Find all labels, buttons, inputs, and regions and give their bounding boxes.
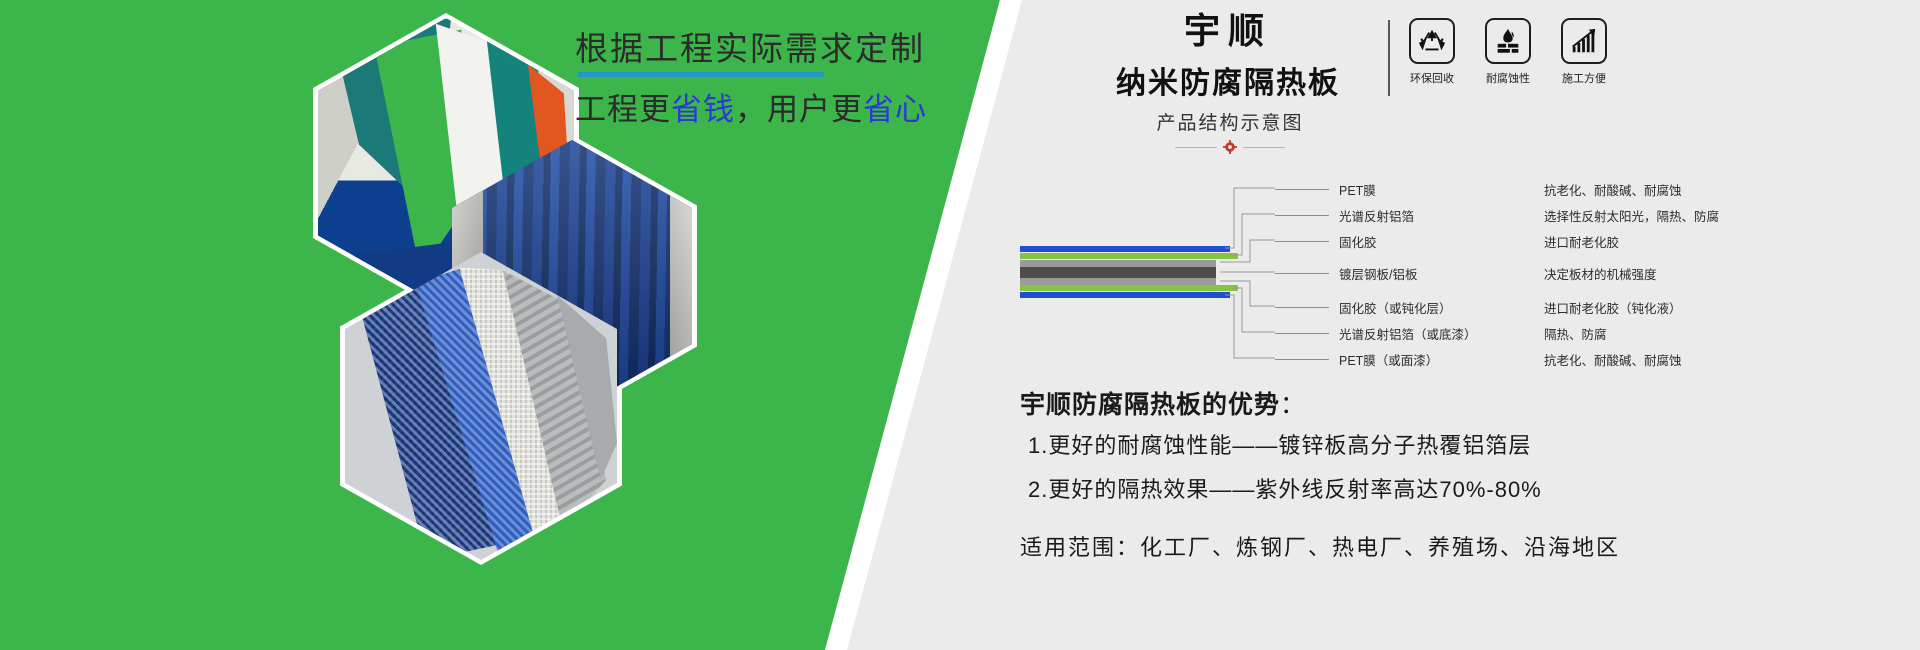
layer-desc: 隔热、防腐	[1544, 324, 1607, 343]
layer-structure-diagram: PET膜 抗老化、耐酸碱、耐腐蚀 光谱反射铝箔 选择性反射太阳光，隔热、防腐 固…	[1020, 176, 1900, 376]
layer-name: 光谱反射铝箔	[1339, 206, 1544, 225]
headline-highlight-2: 省心	[863, 92, 927, 127]
layer-desc: 抗老化、耐酸碱、耐腐蚀	[1544, 350, 1682, 369]
recycle-icon	[1417, 26, 1447, 56]
advantages-title-text: 宇顺防腐隔热板的优势	[1020, 391, 1280, 419]
brand-block: 宇顺 纳米防腐隔热板	[1088, 12, 1368, 102]
layer-row: 光谱反射铝箔 选择性反射太阳光，隔热、防腐	[1275, 206, 1895, 225]
badge-box	[1409, 18, 1455, 64]
fire-brick-icon	[1493, 26, 1523, 56]
structure-diagram-title: 产品结构示意图	[1020, 108, 1440, 135]
advantages-title: 宇顺防腐隔热板的优势：	[1020, 385, 1306, 421]
advantage-item-1: 1.更好的耐腐蚀性能——镀锌板高分子热覆铝箔层	[1028, 428, 1531, 460]
headline-secondary-part1: 工程更	[575, 92, 671, 127]
layer-desc: 进口耐老化胶	[1544, 232, 1619, 251]
headline-primary: 根据工程实际需求定制	[575, 22, 925, 70]
badge-label: 环保回收	[1405, 70, 1459, 86]
brand-subtitle: 纳米防腐隔热板	[1088, 58, 1368, 102]
headline-secondary: 工程更省钱，用户更省心	[575, 84, 927, 129]
badge-recycle: 环保回收	[1405, 18, 1459, 86]
feature-badges: 环保回收 耐腐蚀性	[1405, 18, 1611, 86]
layer-row: 固化胶 进口耐老化胶	[1275, 232, 1895, 251]
layer-name: 固化胶	[1339, 232, 1544, 251]
badge-installation: 施工方便	[1557, 18, 1611, 86]
layer-row: 镀层钢板/铝板 决定板材的机械强度	[1275, 264, 1895, 283]
badge-box	[1561, 18, 1607, 64]
headline-underline	[578, 72, 824, 77]
product-banner: 根据工程实际需求定制 工程更省钱，用户更省心 宇顺 纳米防腐隔热板	[0, 0, 1920, 650]
vertical-divider	[1388, 20, 1390, 96]
layer-name: 光谱反射铝箔（或底漆）	[1339, 324, 1544, 343]
application-scope: 适用范围：化工厂、炼钢厂、热电厂、养殖场、沿海地区	[1020, 530, 1620, 562]
growth-chart-icon	[1569, 26, 1599, 56]
badge-box	[1485, 18, 1531, 64]
layer-desc: 选择性反射太阳光，隔热、防腐	[1544, 206, 1719, 225]
layer-desc: 进口耐老化胶（钝化液）	[1544, 298, 1682, 317]
right-content-panel: 宇顺 纳米防腐隔热板	[1020, 0, 1920, 650]
layer-name: PET膜（或面漆）	[1339, 350, 1544, 369]
layer-row: PET膜（或面漆） 抗老化、耐酸碱、耐腐蚀	[1275, 350, 1895, 369]
leader-lines	[1020, 176, 1280, 376]
headline-highlight-1: 省钱	[671, 92, 735, 127]
advantages-title-colon: ：	[1280, 391, 1306, 419]
layer-desc: 抗老化、耐酸碱、耐腐蚀	[1544, 180, 1682, 199]
layer-desc: 决定板材的机械强度	[1544, 264, 1657, 283]
gear-icon	[1223, 140, 1237, 154]
brand-name: 宇顺	[1088, 12, 1368, 52]
layer-name: 固化胶（或钝化层）	[1339, 298, 1544, 317]
layer-row: 固化胶（或钝化层） 进口耐老化胶（钝化液）	[1275, 298, 1895, 317]
badge-label: 施工方便	[1557, 70, 1611, 86]
layer-row: PET膜 抗老化、耐酸碱、耐腐蚀	[1275, 180, 1895, 199]
layer-name: PET膜	[1339, 180, 1544, 199]
badge-corrosion: 耐腐蚀性	[1481, 18, 1535, 86]
headline-secondary-part2: ，用户更	[735, 92, 863, 127]
layer-name: 镀层钢板/铝板	[1339, 264, 1544, 283]
badge-label: 耐腐蚀性	[1481, 70, 1535, 86]
layer-row: 光谱反射铝箔（或底漆） 隔热、防腐	[1275, 324, 1895, 343]
structure-title-ornament	[1175, 140, 1285, 154]
advantage-item-2: 2.更好的隔热效果——紫外线反射率高达70%-80%	[1028, 472, 1542, 504]
